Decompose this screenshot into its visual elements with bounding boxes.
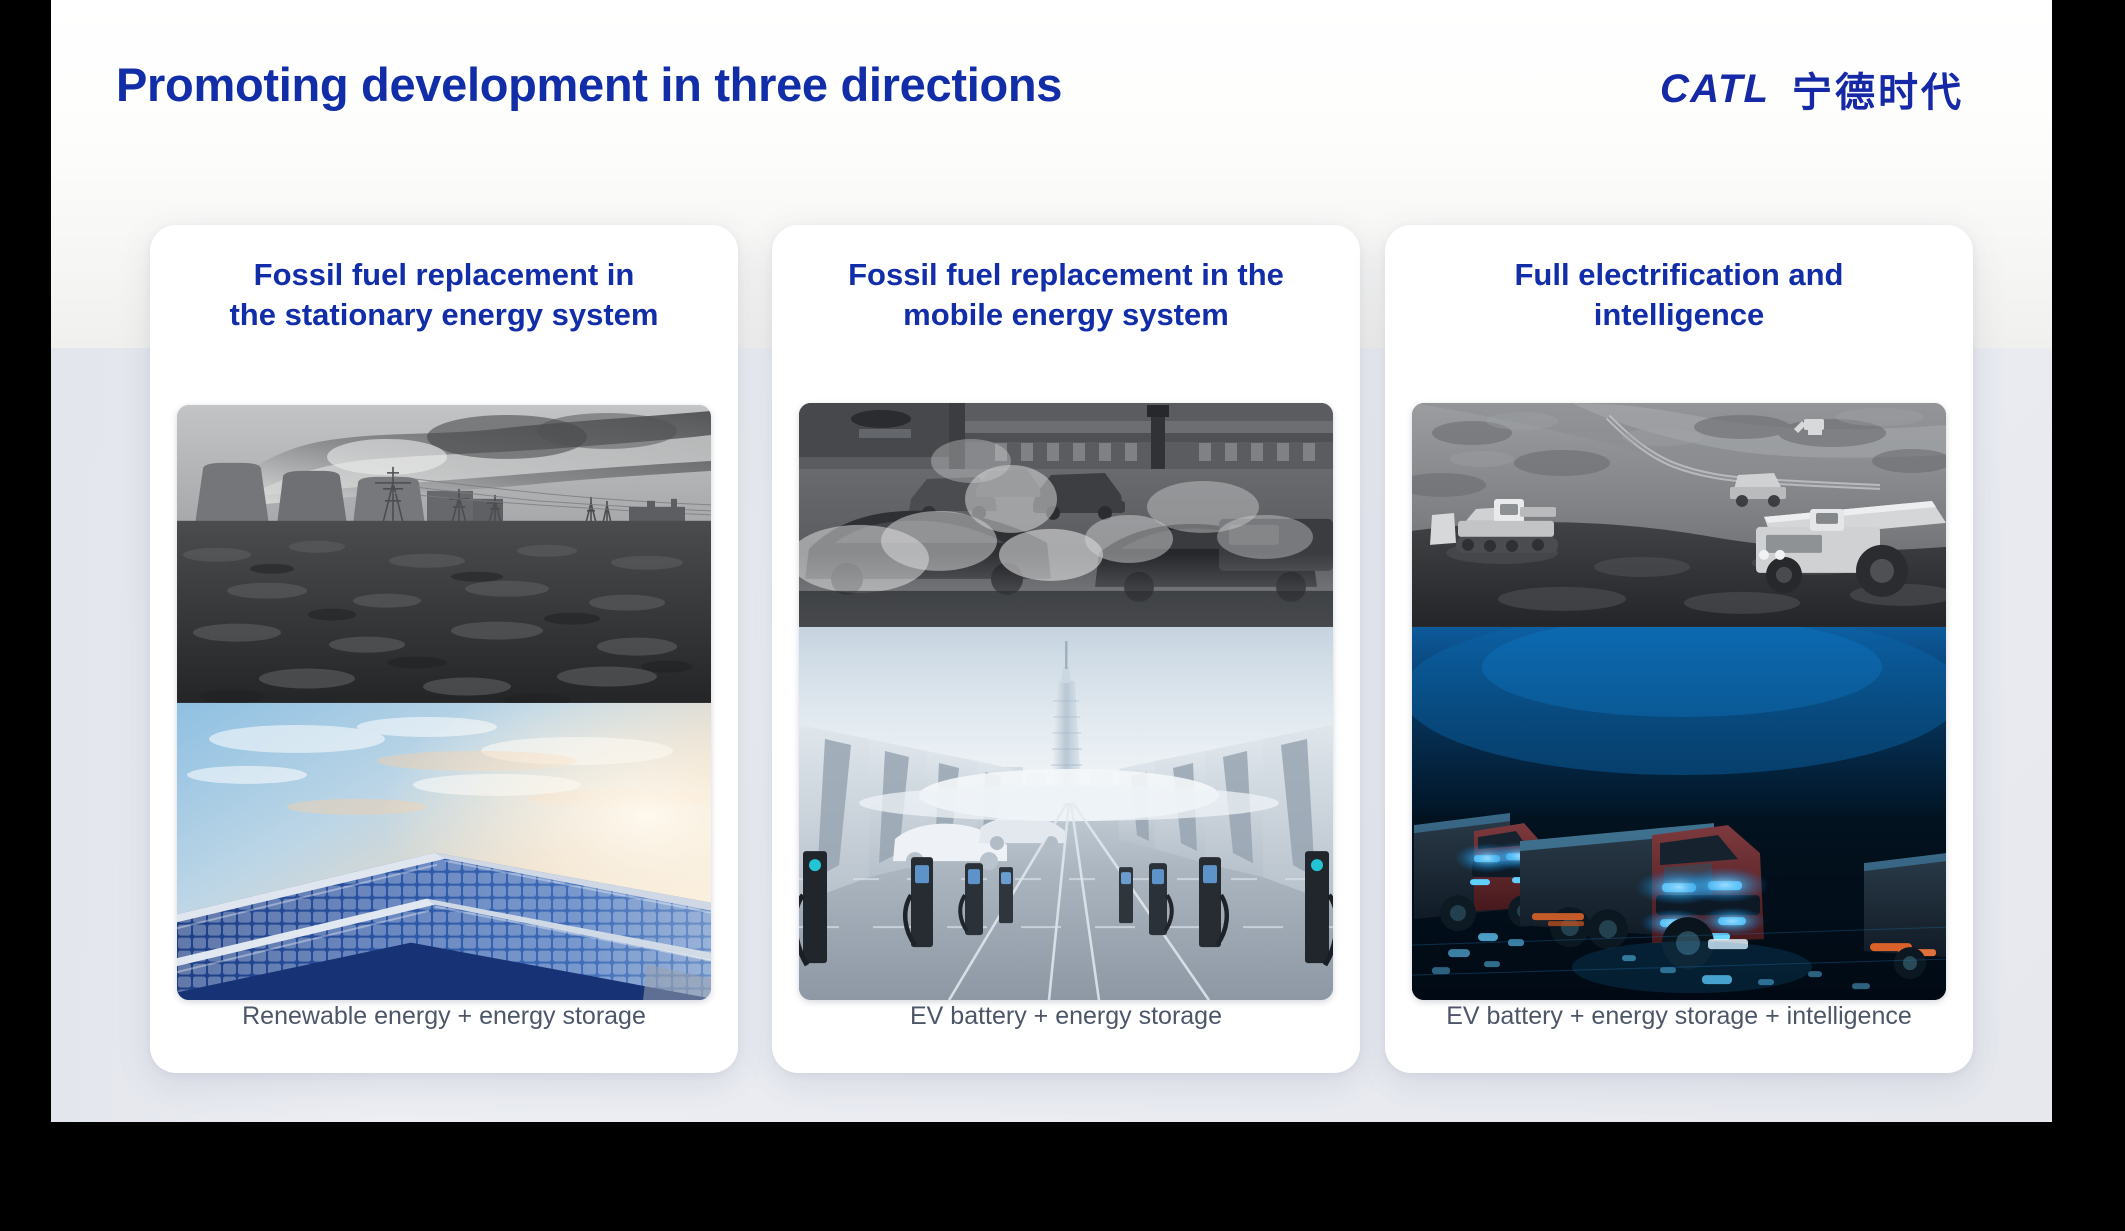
ev-charging-plaza-art	[799, 627, 1333, 1000]
card-title-line1: Fossil fuel replacement in	[164, 255, 724, 295]
direction-card-mobile[interactable]: Fossil fuel replacement in the mobile en…	[772, 225, 1360, 1073]
card-title-line2: the stationary energy system	[164, 295, 724, 335]
card-image-stack	[799, 403, 1333, 1000]
open-pit-mine-art	[1412, 403, 1946, 627]
card-title: Fossil fuel replacement in the stationar…	[164, 255, 724, 335]
open-pit-mine-photo	[1412, 403, 1946, 627]
coal-power-plant-art	[177, 405, 711, 703]
solar-panel-array-photo	[177, 703, 711, 1001]
card-caption: EV battery + energy storage	[782, 1002, 1350, 1031]
card-caption: EV battery + energy storage + intelligen…	[1395, 1002, 1963, 1031]
electric-truck-fleet-photo	[1412, 627, 1946, 1000]
card-row: Fossil fuel replacement in the stationar…	[51, 0, 2052, 1122]
direction-card-stationary[interactable]: Fossil fuel replacement in the stationar…	[150, 225, 738, 1073]
electric-truck-fleet-art	[1412, 627, 1946, 1000]
card-title-line2: mobile energy system	[786, 295, 1346, 335]
card-title-line1: Full electrification and	[1399, 255, 1959, 295]
solar-panel-array-art	[177, 703, 711, 1001]
traffic-exhaust-photo	[799, 403, 1333, 627]
direction-card-electrification[interactable]: Full electrification and intelligence	[1385, 225, 1973, 1073]
presentation-slide: Promoting development in three direction…	[51, 0, 2052, 1122]
card-title: Fossil fuel replacement in the mobile en…	[786, 255, 1346, 335]
slide-letterbox: Promoting development in three direction…	[0, 0, 2125, 1231]
card-title-line2: intelligence	[1399, 295, 1959, 335]
ev-charging-plaza-photo	[799, 627, 1333, 1000]
card-image-stack	[1412, 403, 1946, 1000]
traffic-exhaust-art	[799, 403, 1333, 627]
card-title: Full electrification and intelligence	[1399, 255, 1959, 335]
card-image-stack	[177, 405, 711, 1000]
card-caption: Renewable energy + energy storage	[160, 1002, 728, 1031]
coal-power-plant-photo	[177, 405, 711, 703]
card-title-line1: Fossil fuel replacement in the	[786, 255, 1346, 295]
